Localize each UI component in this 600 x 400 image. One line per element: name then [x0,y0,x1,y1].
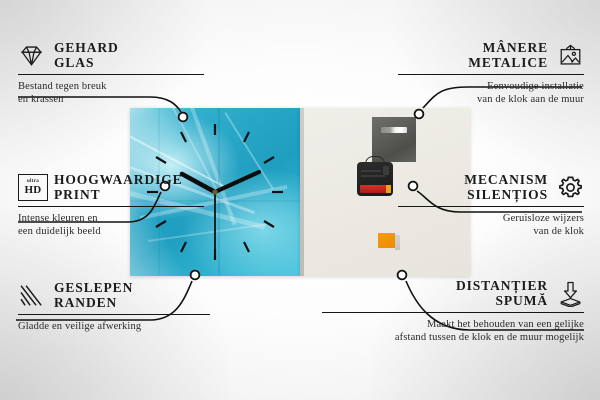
feature-distantier-spuma: DISTANȚIER SPUMĂ Maakt het behouden van … [322,278,584,344]
feature-title: HOOGWAARDIGE [54,172,183,187]
infographic-canvas: GEHARD GLAS Bestand tegen breuk en krass… [0,0,600,400]
connector-dot-gehard-glas [179,113,188,122]
feature-desc: en krassen [18,93,204,106]
feature-title: RANDEN [54,295,133,310]
feature-title: PRINT [54,187,183,202]
feature-manere-metalice: MÂNERE METALICE Eenvoudige installatie v… [398,40,584,106]
divider [322,312,584,313]
feature-desc: Bestand tegen breuk [18,80,204,93]
gear-icon [557,174,584,201]
divider [18,206,204,207]
ultra-hd-icon-top: ultra [27,179,39,184]
diamond-icon [18,42,45,69]
ultra-hd-icon-main: HD [25,185,42,196]
feature-title: METALICE [468,55,548,70]
picture-frame-icon [557,42,584,69]
connector-dot-geslepen-randen [191,271,200,280]
feature-mecanism-silentios: MECANISM SILENȚIOS Geruisloze wijzers va… [398,172,584,238]
divider [398,74,584,75]
feature-desc: Intense kleuren en [18,212,204,225]
feature-desc: Eenvoudige installatie [398,80,584,93]
feature-title: SILENȚIOS [464,187,548,202]
feature-geslepen-randen: GESLEPEN RANDEN Gladde en veilige afwerk… [18,280,210,333]
feature-desc: van de klok [398,225,584,238]
feature-hoogwaardige-print: ultra HD HOOGWAARDIGE PRINT Intense kleu… [18,172,204,238]
feature-title: MECANISM [464,172,548,187]
feature-desc: afstand tussen de klok en de muur mogeli… [322,331,584,344]
feature-title: MÂNERE [468,40,548,55]
arrow-down-pad-icon [557,280,584,307]
feature-desc: een duidelijk beeld [18,225,204,238]
divider [18,314,210,315]
feature-title: GLAS [54,55,119,70]
feature-title: GEHARD [54,40,119,55]
divider [18,74,204,75]
divider [398,206,584,207]
feature-desc: Geruisloze wijzers [398,212,584,225]
feature-title: GESLEPEN [54,280,133,295]
feature-title: SPUMĂ [456,293,548,308]
connector-dot-manere-metalice [415,110,424,119]
feature-desc: Gladde en veilige afwerking [18,320,210,333]
feature-gehard-glas: GEHARD GLAS Bestand tegen breuk en krass… [18,40,204,106]
diagonal-lines-icon [18,282,45,309]
feature-title: DISTANȚIER [456,278,548,293]
feature-desc: Maakt het behouden van een gelijke [322,318,584,331]
feature-desc: van de klok aan de muur [398,93,584,106]
ultra-hd-icon: ultra HD [18,174,45,201]
